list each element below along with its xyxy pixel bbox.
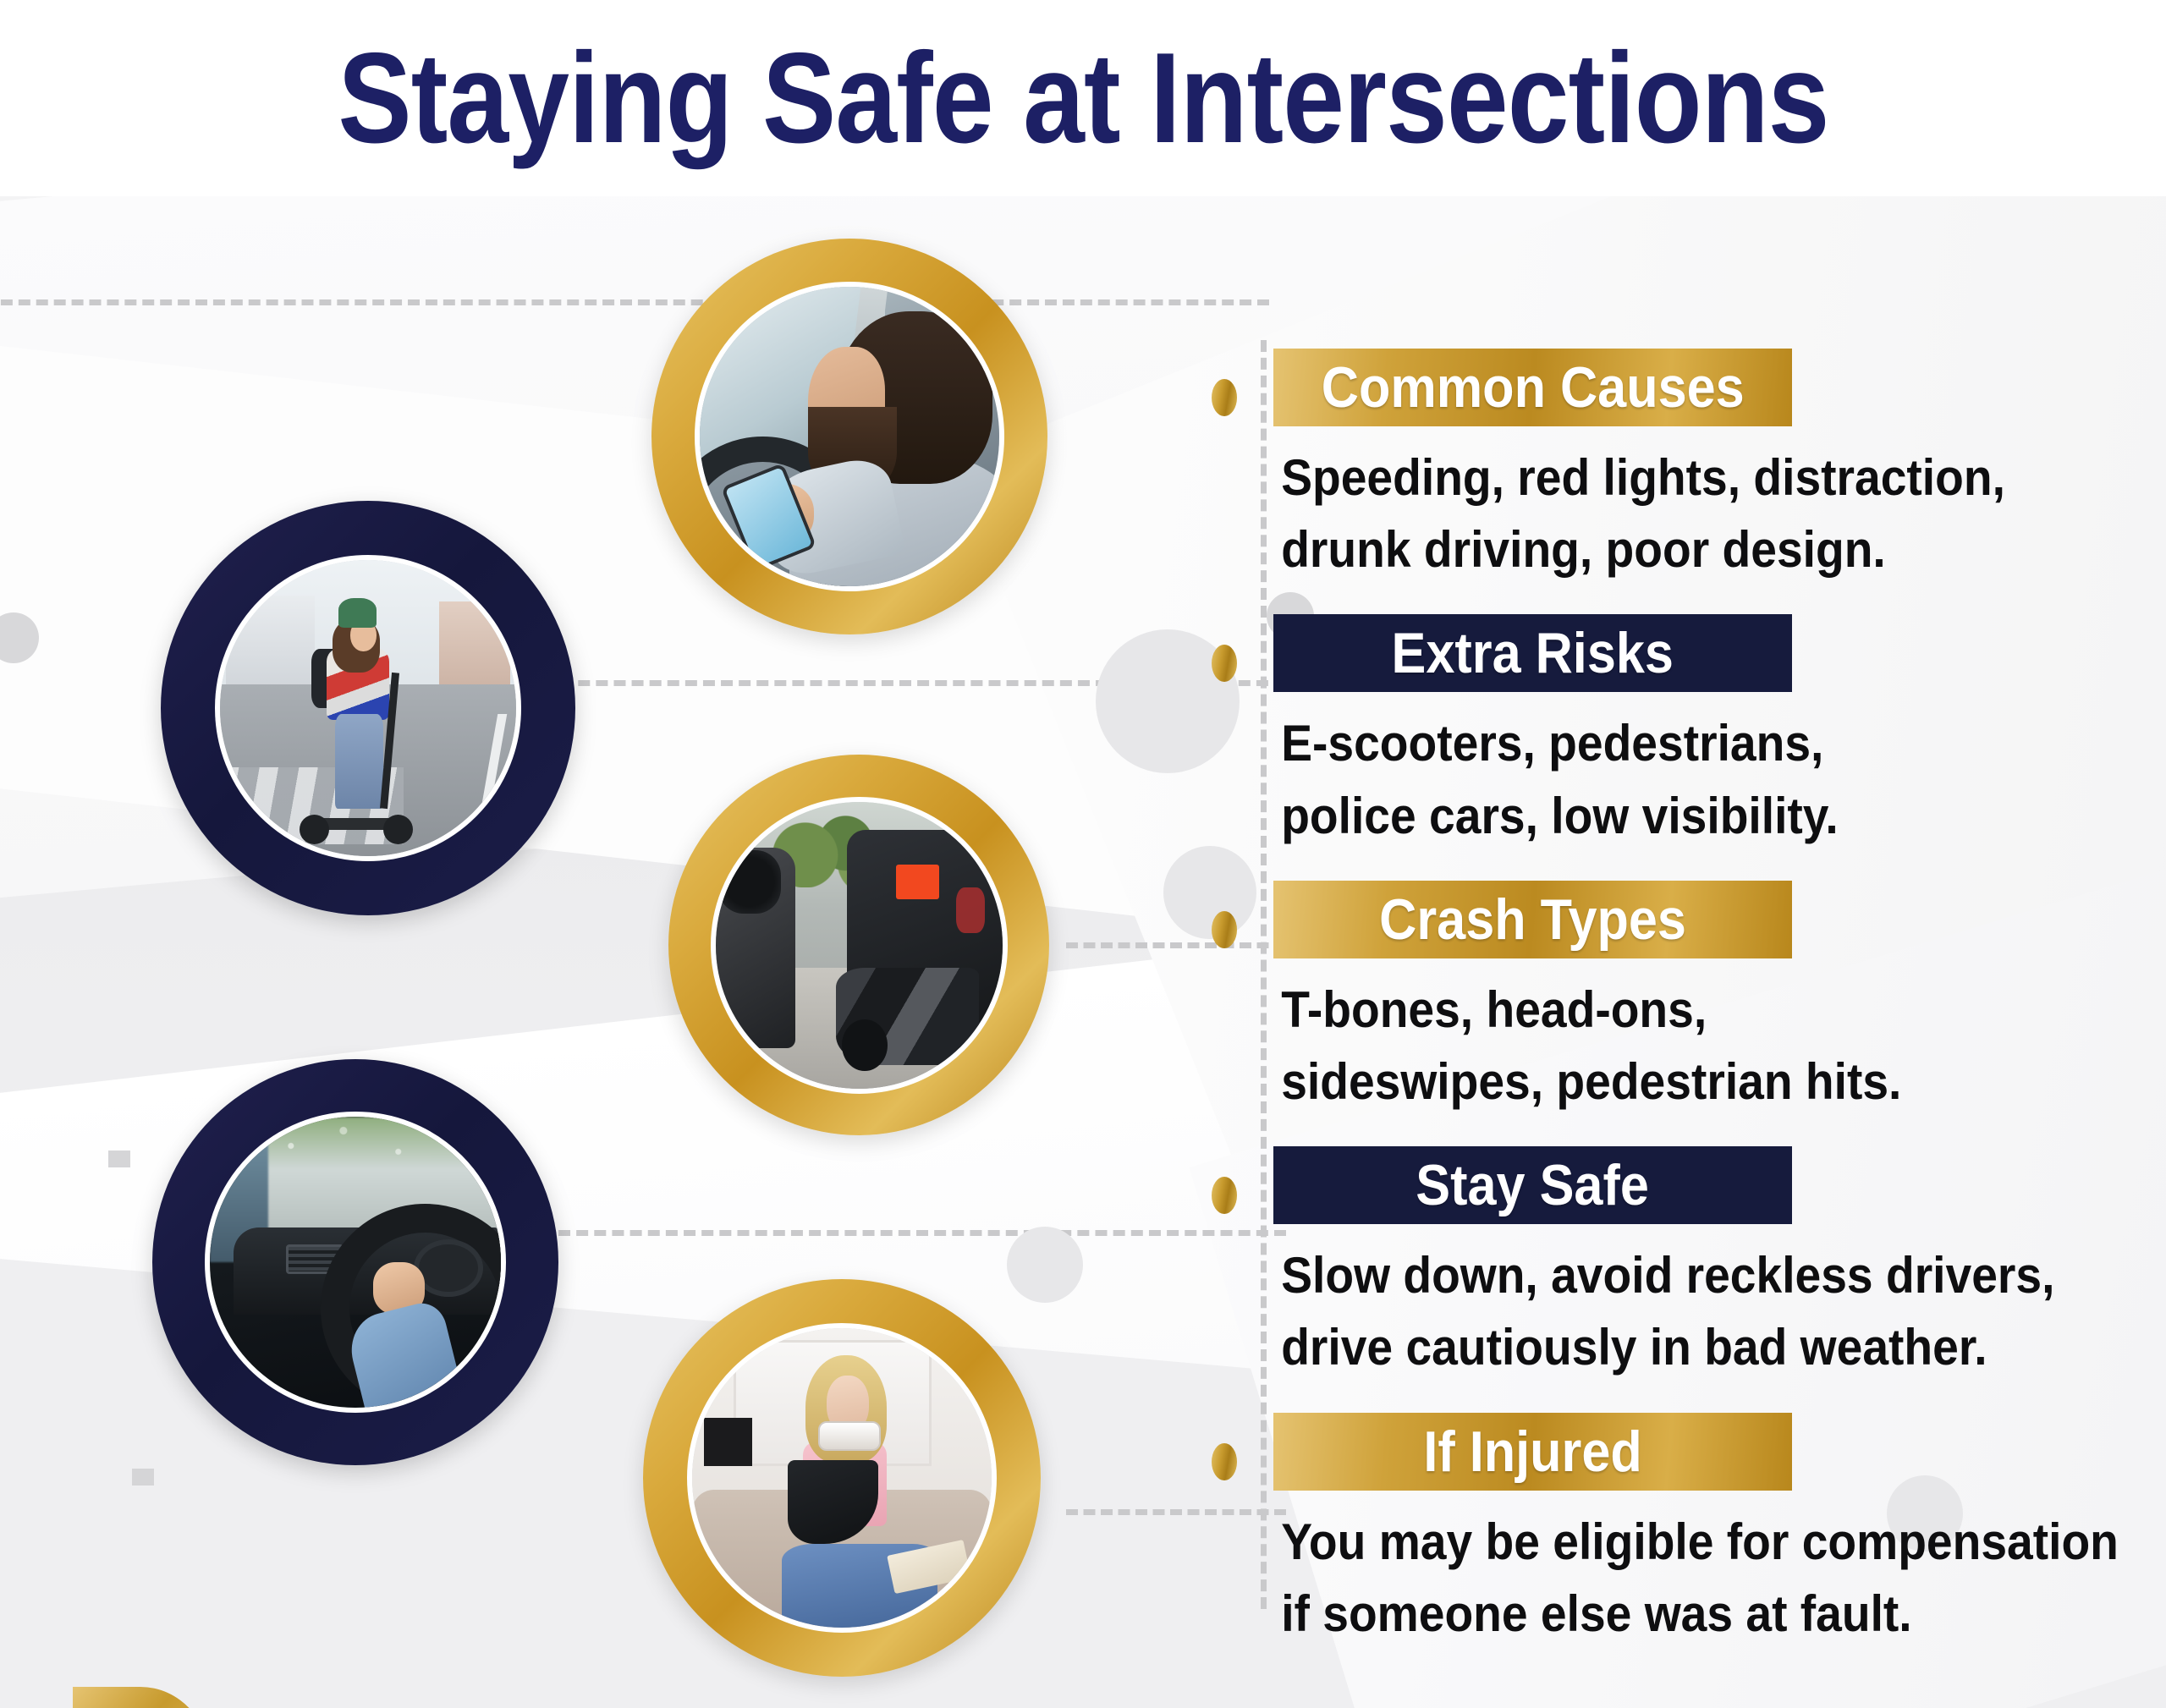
dashed-guide-line [1066, 942, 1286, 948]
content-panel: Common Causes Speeding, red lights, dist… [1273, 349, 2128, 1678]
section-heading-label: If Injured [1423, 1423, 1641, 1480]
section-body: E-scooters, pedestrians, police cars, lo… [1273, 707, 2052, 851]
demas-law-group-logo: EMAS LAW GROUP [66, 1675, 557, 1708]
photo-inner [205, 1112, 505, 1412]
infographic-canvas: Common Causes Speeding, red lights, dist… [0, 196, 2166, 1708]
distracted-driver-photo [651, 239, 1047, 634]
dashed-guide-line-vertical [1261, 340, 1267, 1609]
injured-woman-photo [643, 1279, 1041, 1677]
photo-inner [695, 282, 1003, 590]
body-line: E-scooters, pedestrians, [1281, 707, 2052, 779]
decor-square [108, 1151, 130, 1167]
photo-inner [687, 1323, 998, 1634]
photo-inner [215, 555, 522, 862]
escooter-rider-photo [161, 501, 575, 915]
section-heading-bar: Crash Types [1273, 881, 1792, 958]
body-line: You may be eligible for compensation [1281, 1506, 2052, 1578]
section-body: T-bones, head-ons, sideswipes, pedestria… [1273, 974, 2052, 1118]
panel-item-crash-types: Crash Types T-bones, head-ons, sideswipe… [1273, 881, 2128, 1118]
title-bar: Staying Safe at Intersections [0, 0, 2166, 196]
bullet-dot-icon [1212, 1443, 1237, 1480]
section-heading-bar: Stay Safe [1273, 1146, 1792, 1224]
section-heading-bar: Extra Risks [1273, 614, 1792, 692]
body-line: Slow down, avoid reckless drivers, [1281, 1239, 2052, 1311]
rainy-driving-photo [152, 1059, 558, 1465]
dashed-guide-line [1066, 1509, 1286, 1515]
bullet-dot-icon [1212, 1177, 1237, 1214]
body-line: drunk driving, poor design. [1281, 513, 2052, 585]
section-body: Slow down, avoid reckless drivers, drive… [1273, 1239, 2052, 1383]
body-line: if someone else was at fault. [1281, 1578, 2052, 1650]
page-title: Staying Safe at Intersections [338, 34, 1828, 162]
section-body: Speeding, red lights, distraction, drunk… [1273, 442, 2052, 585]
infographic-page: Staying Safe at Intersections [0, 0, 2166, 1708]
section-body: You may be eligible for compensation if … [1273, 1506, 2052, 1650]
panel-item-if-injured: If Injured You may be eligible for compe… [1273, 1413, 2128, 1650]
bullet-dot-icon [1212, 379, 1237, 416]
dashed-guide-line [0, 299, 1269, 305]
section-heading-label: Common Causes [1322, 359, 1745, 416]
section-heading-bar: Common Causes [1273, 349, 1792, 426]
panel-item-common-causes: Common Causes Speeding, red lights, dist… [1273, 349, 2128, 585]
section-heading-label: Extra Risks [1392, 624, 1674, 682]
photo-inner [711, 797, 1008, 1094]
logo-name: EMAS [232, 1697, 557, 1708]
body-line: Speeding, red lights, distraction, [1281, 442, 2052, 513]
decor-dot [1163, 846, 1256, 939]
car-crash-photo [668, 755, 1049, 1135]
section-heading-bar: If Injured [1273, 1413, 1792, 1491]
decor-dot [0, 612, 39, 663]
body-line: drive cautiously in bad weather. [1281, 1311, 2052, 1383]
section-heading-label: Stay Safe [1416, 1156, 1650, 1214]
decor-square [132, 1469, 154, 1486]
body-line: police cars, low visibility. [1281, 780, 2052, 852]
bullet-dot-icon [1212, 911, 1237, 948]
body-line: T-bones, head-ons, [1281, 974, 2052, 1046]
logo-wordmark: EMAS LAW GROUP [232, 1697, 557, 1708]
decor-dot [1007, 1227, 1083, 1303]
dashed-guide-line [558, 1230, 1286, 1236]
body-line: sideswipes, pedestrian hits. [1281, 1046, 2052, 1118]
d-monogram-icon [66, 1680, 223, 1708]
panel-item-stay-safe: Stay Safe Slow down, avoid reckless driv… [1273, 1146, 2128, 1383]
panel-item-extra-risks: Extra Risks E-scooters, pedestrians, pol… [1273, 614, 2128, 851]
section-heading-label: Crash Types [1379, 891, 1686, 948]
